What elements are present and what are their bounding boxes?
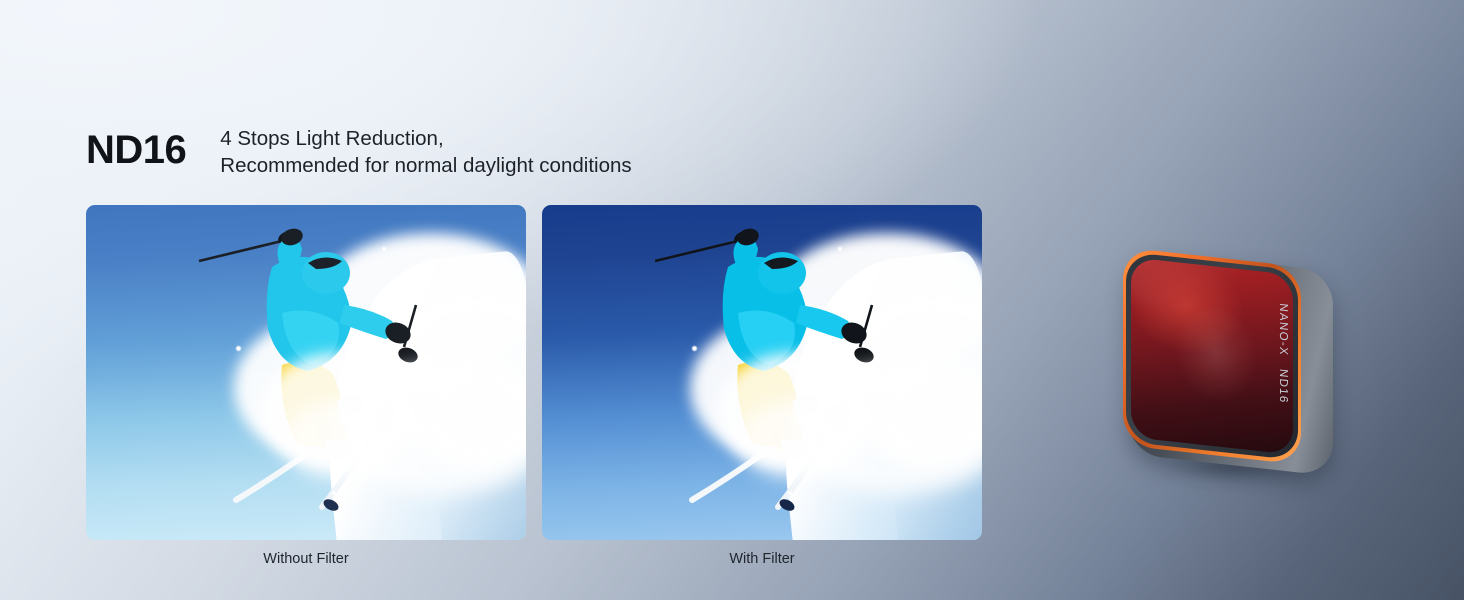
caption-without-filter: Without Filter (86, 551, 526, 567)
glass-reflection (1175, 304, 1257, 413)
product-side-engraving: NANO-X ND16 (1277, 303, 1289, 444)
photo-with-filter (542, 205, 982, 540)
nd16-filter-banner: ND16 4 Stops Light Reduction, Recommende… (0, 0, 1464, 600)
product-brand-label: NANO-X (1277, 303, 1289, 357)
product-glass (1131, 257, 1293, 455)
snow-flake (236, 346, 241, 351)
snow-spray (282, 401, 392, 479)
headline: ND16 4 Stops Light Reduction, Recommende… (86, 122, 632, 180)
subtitle-line-2: Recommended for normal daylight conditio… (220, 152, 631, 179)
snow-flake (788, 491, 792, 495)
caption-with-filter: With Filter (542, 551, 982, 567)
snow-flake (872, 265, 875, 268)
snow-spray (738, 401, 848, 479)
product-model-label: ND16 (1277, 368, 1289, 404)
snow-flake (692, 346, 697, 351)
headline-subtitle: 4 Stops Light Reduction, Recommended for… (220, 125, 631, 180)
snow-flake (416, 265, 419, 268)
page-title: ND16 (86, 130, 186, 170)
subtitle-line-1: 4 Stops Light Reduction, (220, 125, 631, 152)
snow-flake (332, 491, 336, 495)
snow-flake (838, 247, 842, 251)
photo-without-filter (86, 205, 526, 540)
nd16-filter-product: NANO-X ND16 (1118, 252, 1348, 497)
snow-flake (382, 247, 386, 251)
